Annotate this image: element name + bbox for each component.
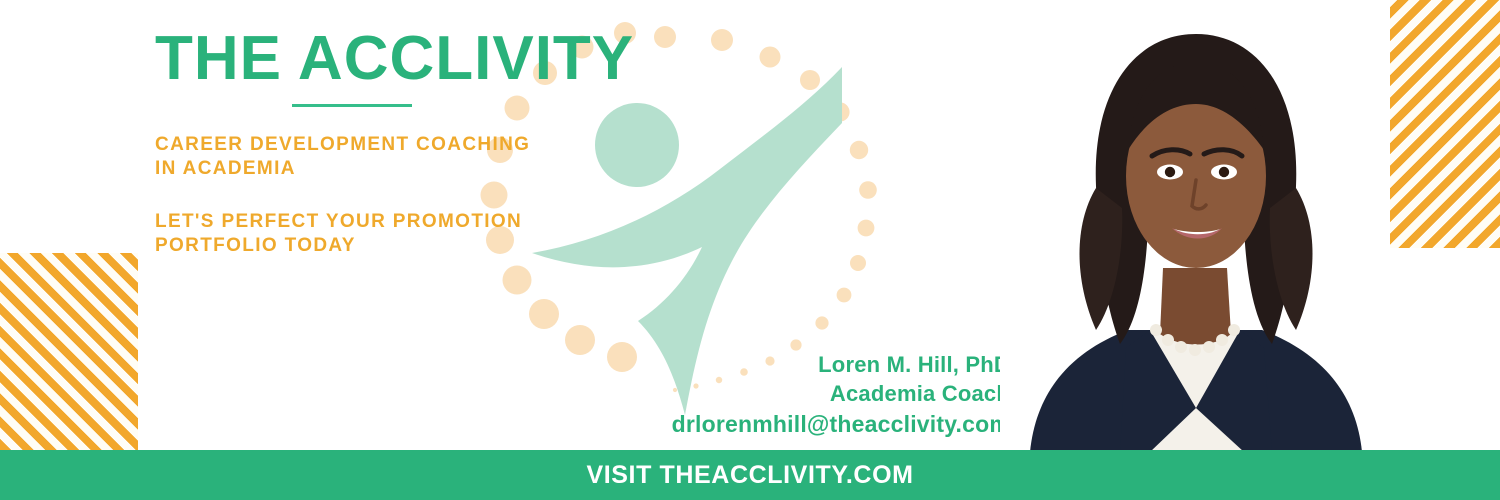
contact-block: Loren M. Hill, PhD Academia Coach drlore… xyxy=(520,350,1010,439)
avatar xyxy=(1000,0,1390,452)
page-title: THE ACCLIVITY xyxy=(155,28,585,90)
footer-cta-label: VISIT THEACCLIVITY.COM xyxy=(586,461,913,490)
footer-cta-bar[interactable]: VISIT THEACCLIVITY.COM xyxy=(0,450,1500,500)
tagline-secondary-line1: LET'S PERFECT YOUR PROMOTION xyxy=(155,210,585,234)
headline-block: THE ACCLIVITY CAREER DEVELOPMENT COACHIN… xyxy=(155,28,585,258)
tagline-primary-line2: IN ACADEMIA xyxy=(155,157,585,181)
tagline-secondary-line2: PORTFOLIO TODAY xyxy=(155,234,585,258)
banner: THE ACCLIVITY CAREER DEVELOPMENT COACHIN… xyxy=(0,0,1500,500)
contact-email[interactable]: drlorenmhill@theacclivity.com xyxy=(520,409,1010,440)
title-divider xyxy=(292,104,412,107)
tagline-primary-line1: CAREER DEVELOPMENT COACHING xyxy=(155,133,585,157)
contact-name: Loren M. Hill, PhD xyxy=(520,350,1010,379)
contact-role: Academia Coach xyxy=(520,379,1010,408)
diagonal-stripes-bottom-left xyxy=(0,253,138,450)
